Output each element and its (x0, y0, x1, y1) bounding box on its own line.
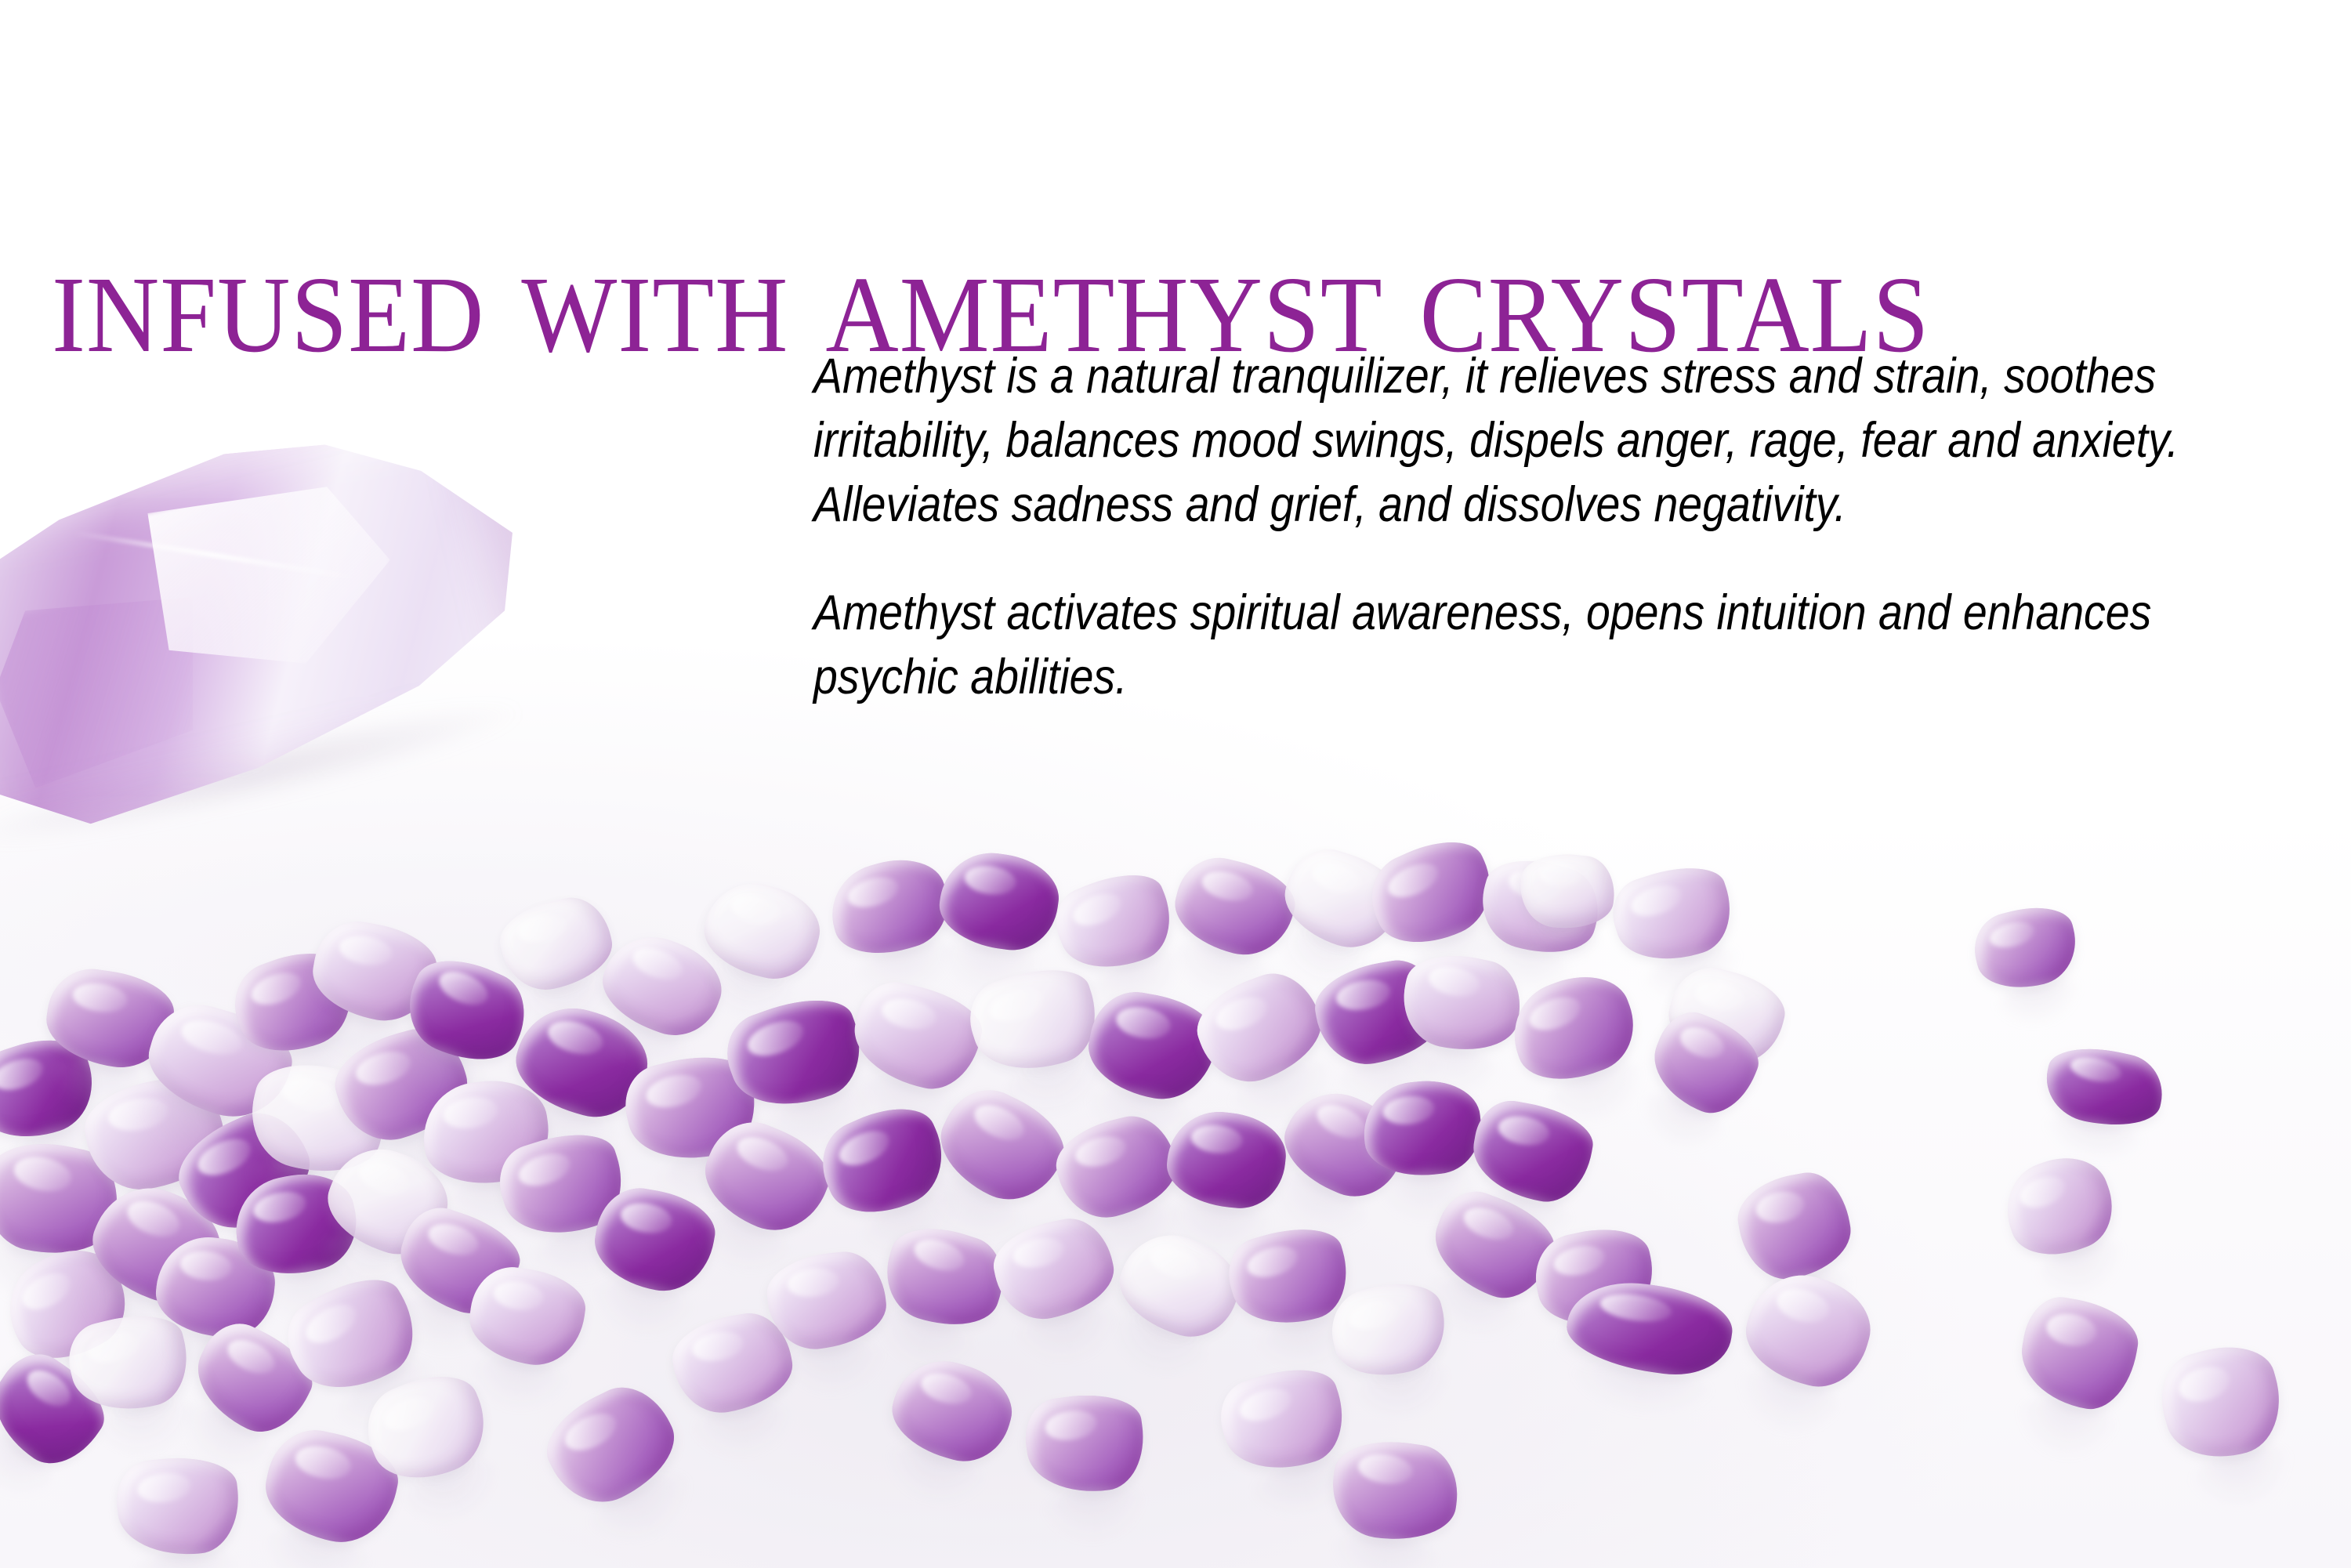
paragraph-benefits: Amethyst is a natural tranquilizer, it r… (813, 345, 2255, 538)
body-copy: Amethyst is a natural tranquilizer, it r… (813, 345, 2255, 709)
slide-canvas: Infused with Amethyst Crystals Amethyst … (0, 0, 2351, 1568)
paragraph-spiritual: Amethyst activates spiritual awareness, … (813, 581, 2255, 710)
